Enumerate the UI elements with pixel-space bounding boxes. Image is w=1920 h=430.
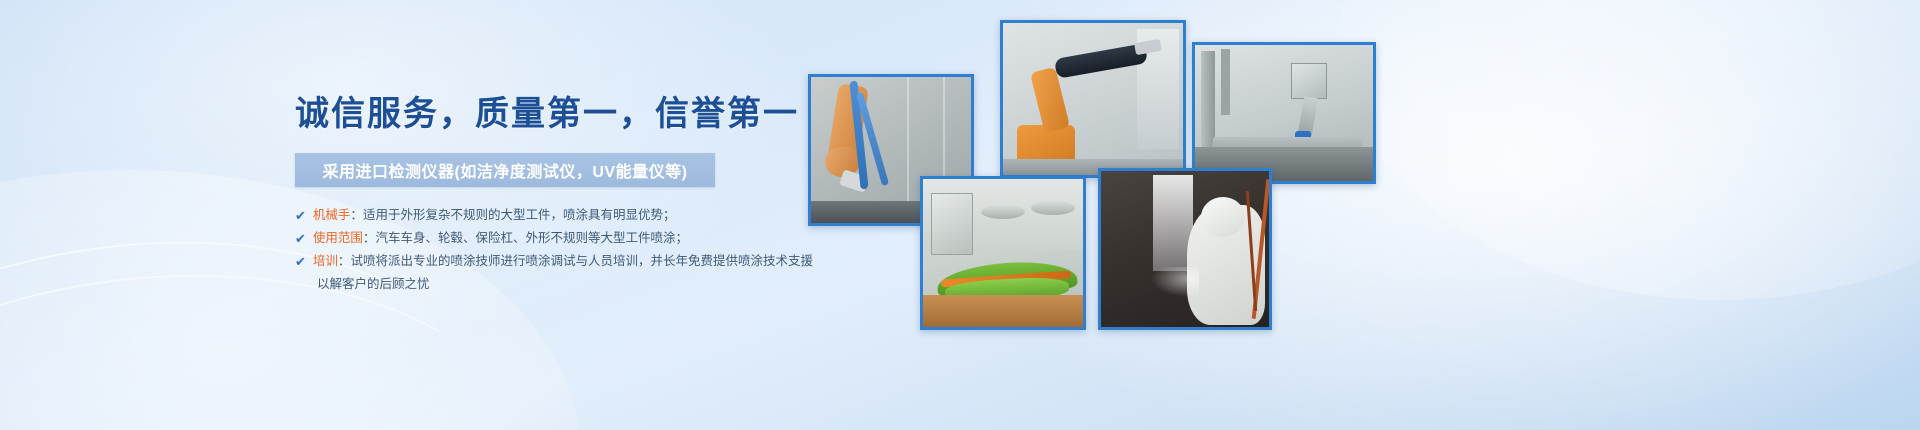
banner-copy-column: 诚信服务，质量第一，信誉第一 采用进口检测仪器(如洁净度测试仪，UV能量仪等) …	[295, 96, 815, 295]
rotating-disc	[1031, 201, 1075, 215]
bullet-text: 机械手：适用于外形复杂不规则的大型工件，喷涂具有明显优势；	[313, 205, 815, 226]
check-icon: ✔	[295, 228, 306, 249]
check-icon: ✔	[295, 251, 306, 272]
photo-image	[923, 179, 1083, 327]
bullet-separator: ：	[338, 254, 351, 268]
bullet-key: 使用范围	[313, 231, 363, 245]
bullet-continuation-line: 以解客户的后顾之忧	[317, 274, 815, 295]
wood-floor	[923, 295, 1083, 327]
decorative-swoosh-glow-right	[1340, 0, 1920, 300]
list-item: ✔ 培训：试喷将派出专业的喷涂技师进行喷涂调试与人员培训，并长年免费提供喷涂技术…	[295, 251, 815, 272]
rotating-disc	[981, 205, 1025, 219]
list-item: ✔ 机械手：适用于外形复杂不规则的大型工件，喷涂具有明显优势；	[295, 205, 815, 226]
bullet-separator: ：	[350, 208, 363, 222]
photo-conveyor-coating-line	[920, 176, 1086, 330]
photo-image	[1195, 45, 1373, 181]
banner-subtitle-bar: 采用进口检测仪器(如洁净度测试仪，UV能量仪等)	[295, 153, 715, 187]
vertical-rail	[1221, 49, 1230, 115]
list-item: ✔ 使用范围：汽车车身、轮毂、保险杠、外形不规则等大型工件喷涂；	[295, 228, 815, 249]
photo-paint-booth-machinery	[1192, 42, 1376, 184]
bullet-text: 使用范围：汽车车身、轮毂、保险杠、外形不规则等大型工件喷涂；	[313, 228, 815, 249]
photo-image	[1101, 171, 1269, 327]
robot-boom-arm	[1054, 43, 1148, 79]
machine-arm	[1298, 96, 1318, 136]
machine-cabinet	[931, 193, 973, 255]
wall-seam	[907, 77, 909, 201]
bullet-key: 机械手	[313, 208, 351, 222]
worker-hood	[1201, 197, 1245, 237]
bullet-text: 培训：试喷将派出专业的喷涂技师进行喷涂调试与人员培训，并长年免费提供喷涂技术支援	[313, 251, 815, 272]
control-box	[1291, 63, 1327, 99]
banner-headline: 诚信服务，质量第一，信誉第一	[295, 96, 815, 133]
photo-worker-spraying-operation	[1098, 168, 1272, 330]
bullet-body: 汽车车身、轮毂、保险杠、外形不规则等大型工件喷涂；	[375, 231, 688, 245]
spray-mist	[1151, 267, 1199, 297]
photo-image	[1003, 23, 1183, 175]
photo-abb-orange-industrial-robot	[1000, 20, 1186, 178]
check-icon: ✔	[295, 205, 306, 226]
feature-bullet-list: ✔ 机械手：适用于外形复杂不规则的大型工件，喷涂具有明显优势； ✔ 使用范围：汽…	[295, 205, 815, 295]
bullet-separator: ：	[363, 231, 376, 245]
bullet-body: 试喷将派出专业的喷涂技师进行喷涂调试与人员培训，并长年免费提供喷涂技术支援	[350, 254, 813, 268]
promo-banner: 诚信服务，质量第一，信誉第一 采用进口检测仪器(如洁净度测试仪，UV能量仪等) …	[0, 0, 1920, 430]
bullet-body: 适用于外形复杂不规则的大型工件，喷涂具有明显优势；	[363, 208, 676, 222]
bullet-key: 培训	[313, 254, 338, 268]
